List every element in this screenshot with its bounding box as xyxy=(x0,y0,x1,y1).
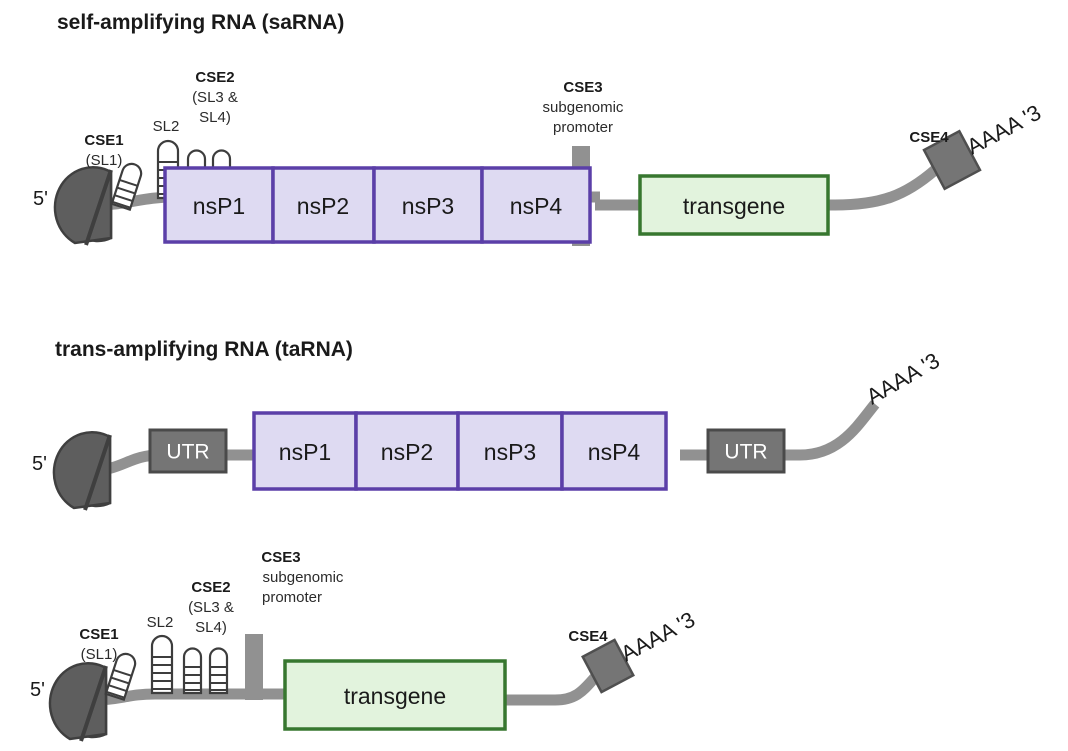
five-prime-label-tarna: 5' xyxy=(32,453,47,475)
cse1-detail-sarna: (SL1) xyxy=(86,152,123,169)
cse2-detail-line1-sarna: (SL3 & xyxy=(192,89,238,106)
cse2-detail-line2-sarna: SL4) xyxy=(199,109,231,126)
stem-loop-sl4-transgene xyxy=(210,649,227,694)
utr-label-left-tarna: UTR xyxy=(166,441,209,464)
cse3-label-sarna: CSE3 xyxy=(563,79,602,96)
cse2-label-sarna: CSE2 xyxy=(195,69,234,86)
orf-box-label-nsp4-tarna: nsP4 xyxy=(588,439,641,465)
orf-box-label-nsp3: nsP3 xyxy=(402,193,454,219)
stem-loop-sl2-transgene xyxy=(152,636,172,693)
cse2-detail-line2-transgene: SL4) xyxy=(195,619,227,636)
transgene-label-tarna: transgene xyxy=(344,683,446,709)
sl2-label-sarna: SL2 xyxy=(153,118,180,135)
transgene-label-sarna: transgene xyxy=(683,193,785,219)
panel-title-sarna: self-amplifying RNA (saRNA) xyxy=(57,11,344,34)
rna-construct-diagram: self-amplifying RNA (saRNA) 5' CSE1 (SL1… xyxy=(0,0,1068,751)
cse3-detail-line1-sarna: subgenomic xyxy=(543,99,624,116)
five-prime-label-transgene: 5' xyxy=(30,679,45,701)
utr-label-right-tarna: UTR xyxy=(724,441,767,464)
cse3-promoter-bar-transgene xyxy=(245,634,263,700)
panel-title-tarna: trans-amplifying RNA (taRNA) xyxy=(55,338,353,361)
orf-box-label-nsp1: nsP1 xyxy=(193,193,245,219)
cse4-label-transgene: CSE4 xyxy=(568,628,608,645)
orf-box-label-nsp4: nsP4 xyxy=(510,193,563,219)
five-prime-label-sarna: 5' xyxy=(33,188,48,210)
orf-box-label-nsp1-tarna: nsP1 xyxy=(279,439,331,465)
cse3-detail-line2-sarna: promoter xyxy=(553,119,613,136)
orf-box-label-nsp2-tarna: nsP2 xyxy=(381,439,433,465)
stem-loop-sl3-transgene xyxy=(184,649,201,694)
cse1-label-sarna: CSE1 xyxy=(84,132,123,149)
cse3-detail-line1-transgene: subgenomic xyxy=(263,569,344,586)
orf-box-label-nsp2: nsP2 xyxy=(297,193,349,219)
cse2-detail-line1-transgene: (SL3 & xyxy=(188,599,234,616)
cse4-label-sarna: CSE4 xyxy=(909,129,949,146)
cse3-label-transgene: CSE3 xyxy=(261,549,300,566)
cse1-detail-transgene: (SL1) xyxy=(81,646,118,663)
cse2-label-transgene: CSE2 xyxy=(191,579,230,596)
orf-boxes-sarna: nsP1 nsP2 nsP3 nsP4 xyxy=(165,168,590,242)
orf-boxes-tarna: nsP1 nsP2 nsP3 nsP4 xyxy=(254,413,666,489)
cse3-detail-line2-transgene: promoter xyxy=(262,589,322,606)
cse1-label-transgene: CSE1 xyxy=(79,626,118,643)
orf-box-label-nsp3-tarna: nsP3 xyxy=(484,439,536,465)
sl2-label-transgene: SL2 xyxy=(147,614,174,631)
